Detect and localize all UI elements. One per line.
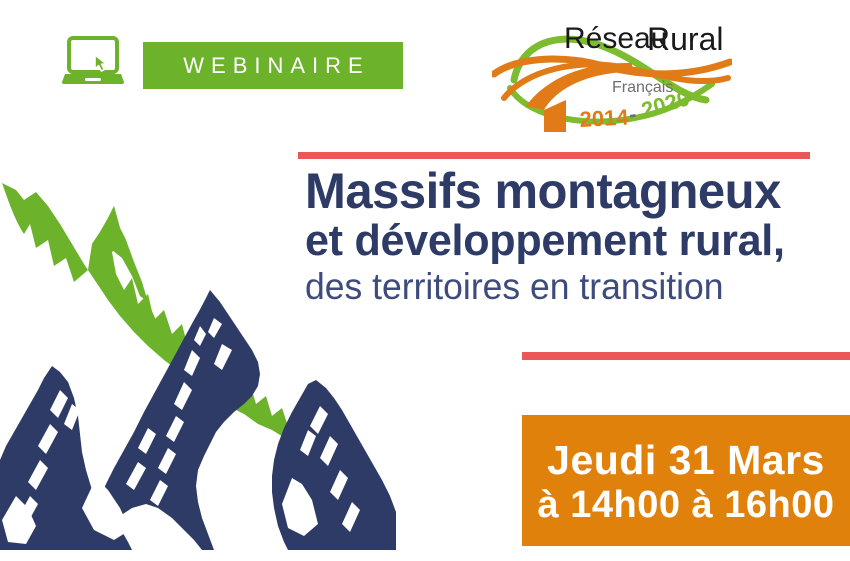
title-line-2: et développement rural, [305,220,815,262]
webinaire-badge: WEBINAIRE [143,42,403,89]
title-line-3: des territoires en transition [305,268,804,305]
webinaire-badge-label: WEBINAIRE [176,55,369,77]
event-date-box: Jeudi 31 Mars à 14h00 à 16h00 [522,415,850,546]
navy-mountains [0,290,396,550]
page-title: Massifs montagneux et développement rura… [305,168,825,305]
title-rule-top [298,152,810,159]
svg-text:-: - [627,101,638,127]
logo-word-rural: Rural [647,21,723,57]
reseau-rural-francais-logo: Réseau Rural Français 2014 - 2020 [492,14,732,139]
laptop-with-cursor-icon [62,36,124,86]
svg-text:2014: 2014 [579,104,630,132]
webinar-poster: WEBINAIRE Réseau Rural Français 201 [0,0,850,561]
event-date-day: Jeudi 31 Mars [547,438,825,484]
event-date-time: à 14h00 à 16h00 [538,484,835,527]
title-line-1: Massifs montagneux [305,168,815,216]
title-rule-bottom [522,352,850,360]
